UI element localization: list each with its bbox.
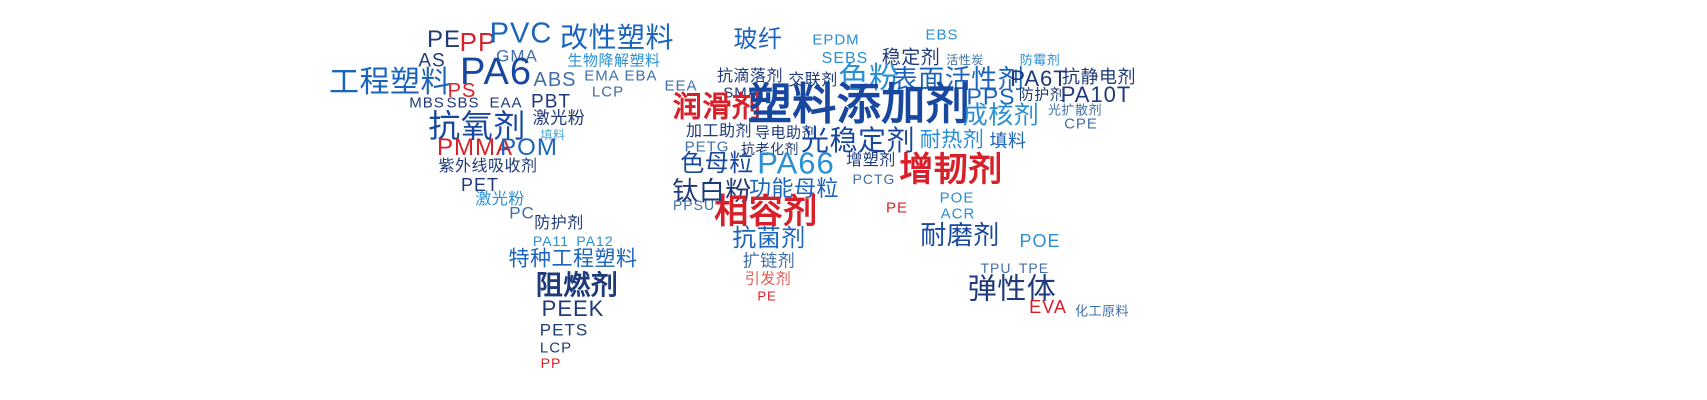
word-cloud-term[interactable]: 增塑剂 bbox=[846, 153, 896, 169]
word-cloud-term[interactable]: 工程塑料 bbox=[329, 68, 451, 98]
word-cloud-term[interactable]: 化工原料 bbox=[1075, 305, 1129, 318]
word-cloud-term[interactable]: 防霉剂 bbox=[1020, 54, 1061, 67]
word-cloud-term[interactable]: PE bbox=[427, 28, 461, 52]
word-cloud-term[interactable]: POM bbox=[500, 136, 558, 160]
word-cloud-term[interactable]: PETS bbox=[540, 322, 588, 339]
word-cloud-term[interactable]: CPE bbox=[1064, 117, 1098, 132]
word-cloud-term[interactable]: PA66 bbox=[757, 148, 835, 179]
word-cloud-term[interactable]: 生物降解塑料 bbox=[567, 54, 660, 69]
word-cloud-term[interactable]: EBA bbox=[624, 69, 657, 84]
word-cloud: PEPPPVCGMAASPA6工程塑料ABSPSMBSSBSEAAPBT抗氧剂激… bbox=[0, 0, 1707, 400]
word-cloud-term[interactable]: 防护剂 bbox=[1019, 88, 1066, 103]
word-cloud-term[interactable]: 填料 bbox=[990, 132, 1027, 150]
word-cloud-term[interactable]: PA12 bbox=[576, 234, 613, 248]
word-cloud-term[interactable]: EMA bbox=[584, 69, 620, 84]
word-cloud-term[interactable]: PE bbox=[757, 290, 776, 303]
word-cloud-term[interactable]: 扩链剂 bbox=[743, 253, 796, 270]
word-cloud-term[interactable]: 激光粉 bbox=[533, 110, 586, 127]
word-cloud-term[interactable]: EBS bbox=[925, 28, 958, 43]
word-cloud-term[interactable]: POE bbox=[940, 191, 975, 206]
word-cloud-term[interactable]: 改性塑料 bbox=[560, 24, 674, 52]
word-cloud-term[interactable]: LCP bbox=[540, 341, 572, 356]
word-cloud-term[interactable]: 塑料添加剂 bbox=[748, 83, 971, 127]
word-cloud-term[interactable]: 色母粒 bbox=[680, 152, 754, 176]
word-cloud-term[interactable]: 紫外线吸收剂 bbox=[438, 159, 537, 175]
word-cloud-term[interactable]: 相容剂 bbox=[714, 195, 818, 229]
word-cloud-term[interactable]: 耐热剂 bbox=[920, 130, 985, 151]
word-cloud-term[interactable]: 引发剂 bbox=[745, 272, 792, 287]
word-cloud-term[interactable]: PA11 bbox=[533, 234, 569, 248]
word-cloud-term[interactable]: 防护剂 bbox=[534, 216, 584, 232]
word-cloud-term[interactable]: PVC bbox=[490, 20, 553, 49]
word-cloud-term[interactable]: 耐磨剂 bbox=[920, 222, 1000, 248]
word-cloud-term[interactable]: PE bbox=[886, 201, 908, 216]
word-cloud-term[interactable]: 增韧剂 bbox=[899, 153, 1003, 187]
word-cloud-term[interactable]: EPDM bbox=[812, 33, 859, 48]
word-cloud-term[interactable]: 成核剂 bbox=[963, 104, 1040, 129]
word-cloud-term[interactable]: PP bbox=[541, 356, 562, 370]
word-cloud-term[interactable]: PPSU bbox=[673, 198, 715, 212]
word-cloud-term[interactable]: EVA bbox=[1029, 298, 1067, 316]
word-cloud-term[interactable]: LCP bbox=[592, 85, 624, 100]
word-cloud-term[interactable]: ABS bbox=[533, 70, 576, 90]
word-cloud-term[interactable]: POE bbox=[1019, 232, 1060, 250]
word-cloud-term[interactable]: PCTG bbox=[853, 172, 896, 186]
word-cloud-term[interactable]: 抗菌剂 bbox=[732, 227, 806, 251]
word-cloud-term[interactable]: 玻纤 bbox=[734, 28, 783, 52]
word-cloud-term[interactable]: PC bbox=[509, 205, 535, 222]
word-cloud-term[interactable]: PEEK bbox=[542, 298, 605, 320]
word-cloud-term[interactable]: 特种工程塑料 bbox=[509, 249, 638, 270]
